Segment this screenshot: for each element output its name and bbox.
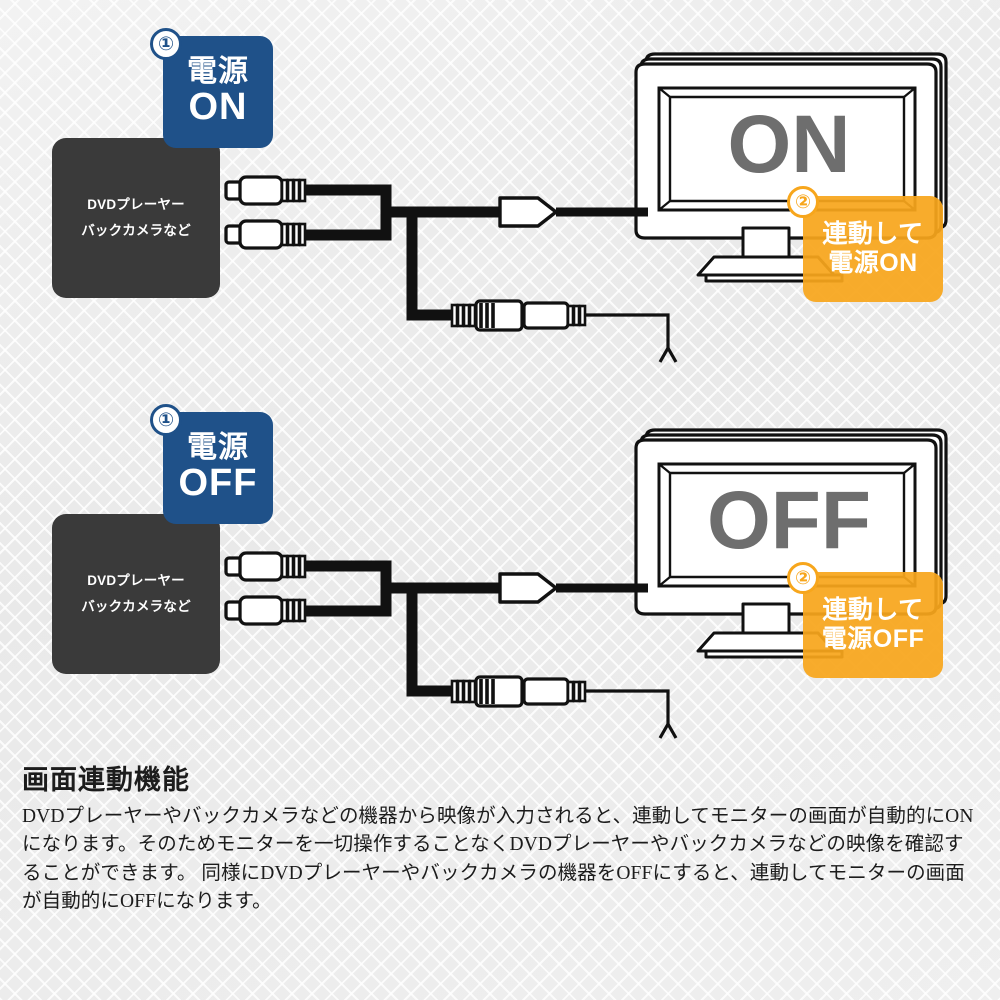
step2-label-line-2: 電源ON [828, 249, 918, 279]
diagram-power-off: OFF DVDプレーヤー バックカメラなど 電源 OFF ① 連動して 電源OF… [0, 390, 1000, 790]
step2-number-circle: ② [787, 562, 819, 594]
step1-label-line-1: 電源 [187, 56, 249, 88]
monitor-screen-text-on: ON [728, 99, 851, 190]
step2-number-circle: ② [787, 186, 819, 218]
step2-badge-power-off: 連動して 電源OFF [803, 572, 943, 678]
monitor-screen-text-off: OFF [707, 475, 871, 566]
step2-label-line-2: 電源OFF [822, 625, 925, 655]
step1-number-circle: ① [150, 28, 182, 60]
step1-badge-power-on: 電源 ON [163, 36, 273, 148]
step1-badge-power-off: 電源 OFF [163, 412, 273, 524]
infographic-page: ON DVDプレーヤー バックカメラなど 電源 ON ① 連動して 電源ON ② [0, 0, 1000, 1000]
step1-label-line-2: OFF [179, 464, 258, 504]
step2-badge-power-on: 連動して 電源ON [803, 196, 943, 302]
step1-label-line-1: 電源 [187, 432, 249, 464]
step2-label-line-1: 連動して [822, 596, 923, 626]
step2-label-line-1: 連動して [822, 220, 923, 250]
diagram-power-on: ON DVDプレーヤー バックカメラなど 電源 ON ① 連動して 電源ON ② [0, 0, 1000, 400]
section-body: DVDプレーヤーやバックカメラなどの機器から映像が入力されると、連動してモニター… [22, 803, 980, 917]
step1-number-circle: ① [150, 404, 182, 436]
step1-label-line-2: ON [189, 88, 248, 128]
